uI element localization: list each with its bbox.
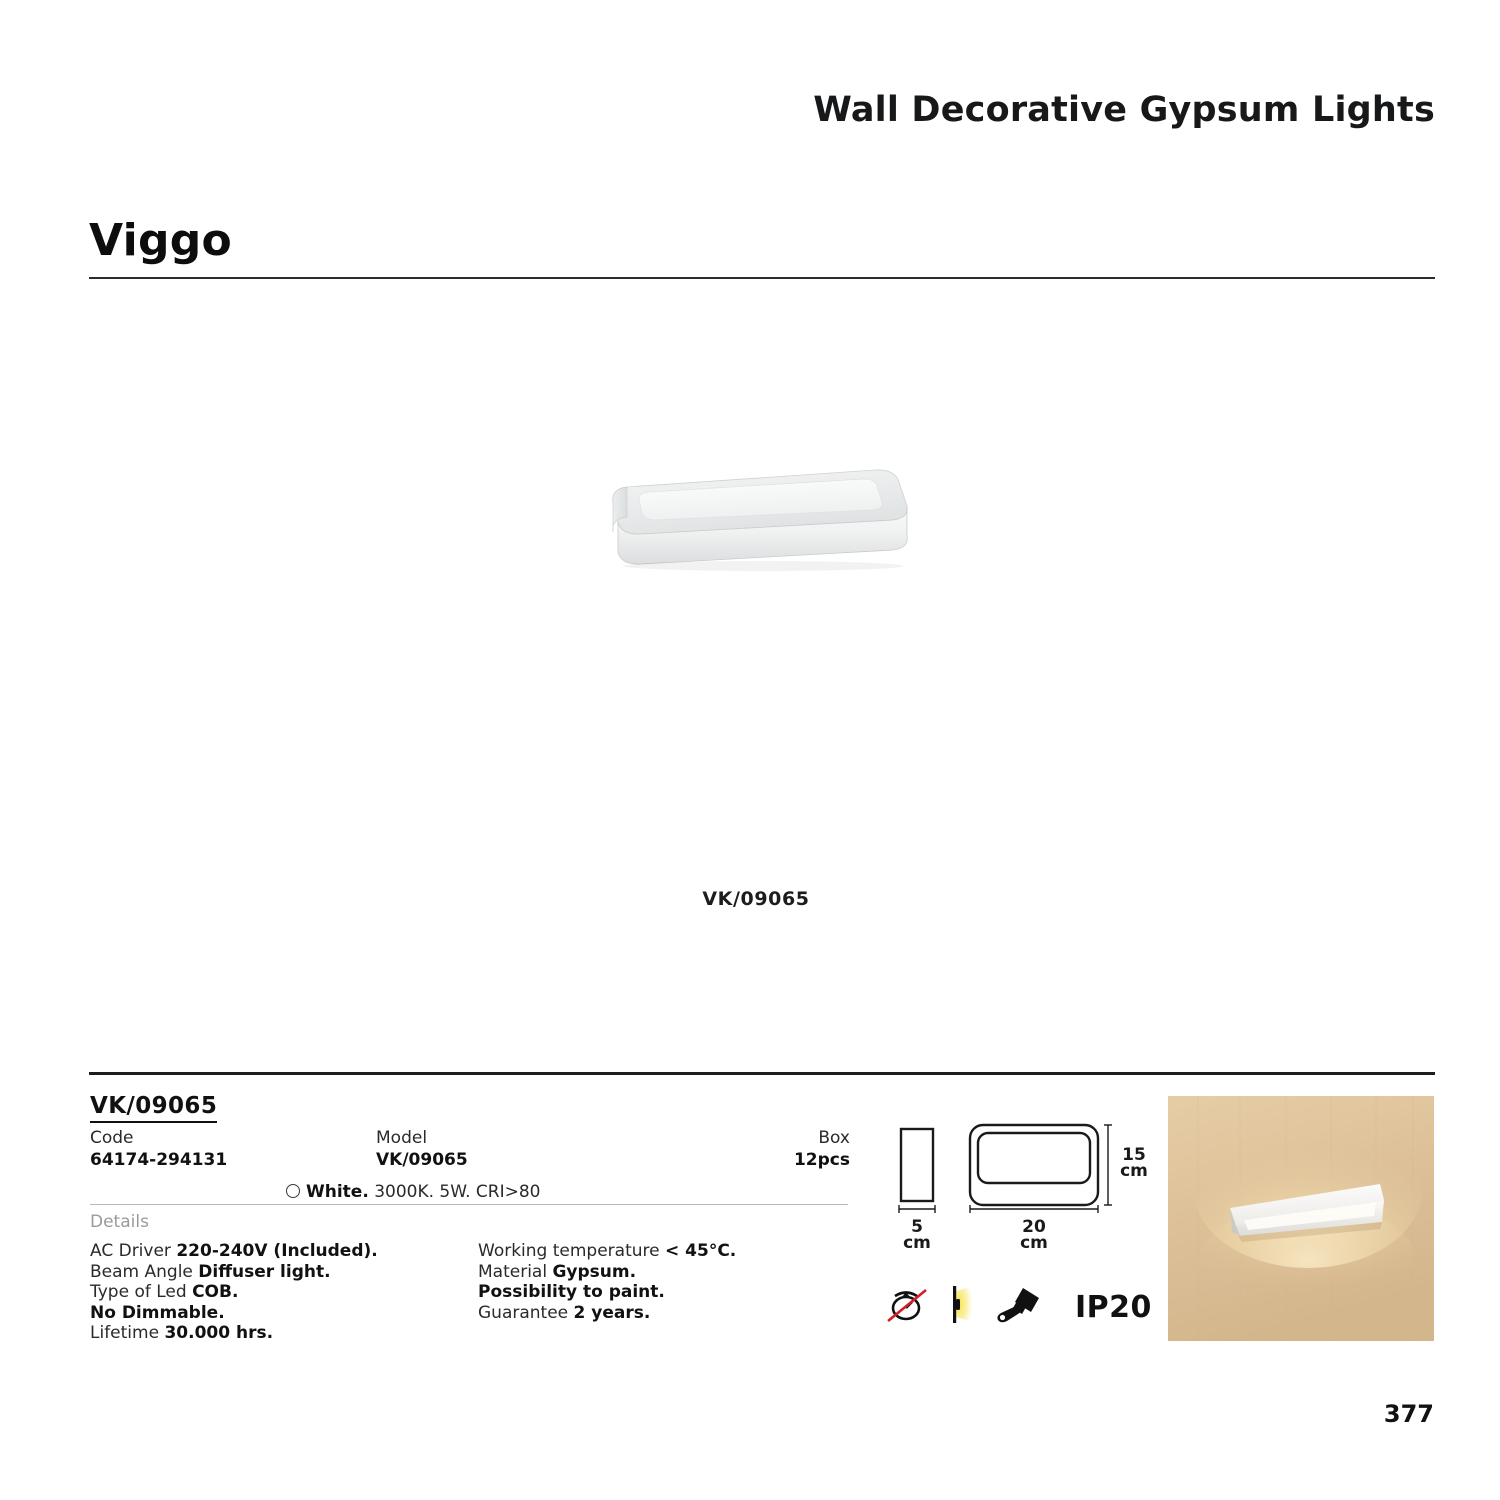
detail-line-left-4: Lifetime 30.000 hrs.: [90, 1324, 480, 1344]
detail-value: 220-240V (Included).: [176, 1241, 377, 1261]
detail-line-left-2: Type of Led COB.: [90, 1283, 480, 1303]
detail-line-right-2: Possibility to paint.: [478, 1283, 838, 1303]
dim-side-unit: cm: [903, 1233, 931, 1253]
dim-width-unit: cm: [1020, 1233, 1048, 1253]
detail-line-left-1: Beam Angle Diffuser light.: [90, 1262, 480, 1282]
variant-specs: 3000K. 5W. CRI>80: [374, 1182, 540, 1202]
detail-lead: Guarantee: [478, 1303, 574, 1323]
detail-line-right-1: Material Gypsum.: [478, 1262, 838, 1282]
detail-line-left-0: AC Driver 220-240V (Included).: [90, 1242, 480, 1262]
category-title: Wall Decorative Gypsum Lights: [0, 90, 1435, 130]
detail-lead: Material: [478, 1262, 552, 1282]
code-value: 64174-294131: [90, 1150, 227, 1170]
detail-lead: Type of Led: [90, 1282, 192, 1302]
details-divider: [90, 1204, 848, 1205]
detail-value: < 45°C.: [665, 1241, 736, 1261]
detail-lead: AC Driver: [90, 1241, 176, 1261]
detail-value: COB.: [192, 1282, 238, 1302]
catalog-page: Wall Decorative Gypsum Lights Viggo: [0, 0, 1500, 1500]
dimension-drawings: 5 cm 20 cm 15 cm: [880, 1110, 1170, 1260]
model-value: VK/09065: [376, 1150, 468, 1170]
box-value: 12pcs: [710, 1150, 850, 1170]
detail-value: No Dimmable.: [90, 1303, 225, 1323]
color-swatch-icon: [286, 1184, 300, 1198]
details-label: Details: [90, 1212, 149, 1232]
dim-height-unit: cm: [1120, 1161, 1148, 1181]
spec-header-row: Code Model Box: [90, 1128, 850, 1150]
variant-color: White.: [306, 1182, 369, 1202]
detail-value: Diffuser light.: [198, 1262, 330, 1282]
hero-product-image: [575, 462, 930, 587]
feature-icon-row: IP20: [885, 1281, 1152, 1333]
spec-top-divider: [89, 1072, 1435, 1075]
details-column-right: Working temperature < 45°C.Material Gyps…: [478, 1242, 838, 1324]
installed-photo: [1168, 1096, 1434, 1341]
wall-beam-light-icon: [947, 1285, 977, 1329]
detail-line-right-0: Working temperature < 45°C.: [478, 1242, 838, 1262]
spec-value-row: 64174-294131 VK/09065 12pcs: [90, 1150, 850, 1172]
sku-heading: VK/09065: [90, 1093, 217, 1123]
page-title: Viggo: [89, 215, 232, 266]
hero-caption: VK/09065: [0, 888, 1500, 910]
code-label: Code: [90, 1128, 134, 1148]
detail-lead: Beam Angle: [90, 1262, 198, 1282]
detail-value: 30.000 hrs.: [164, 1323, 273, 1343]
details-column-left: AC Driver 220-240V (Included).Beam Angle…: [90, 1242, 480, 1344]
detail-line-right-3: Guarantee 2 years.: [478, 1303, 838, 1323]
paintbrush-icon: [995, 1285, 1041, 1329]
detail-value: 2 years.: [574, 1303, 651, 1323]
spec-table: Code Model Box 64174-294131 VK/09065 12p…: [90, 1128, 850, 1172]
detail-value: Gypsum.: [552, 1262, 636, 1282]
ip-rating-label: IP20: [1075, 1290, 1152, 1325]
variant-line: White. 3000K. 5W. CRI>80: [286, 1182, 540, 1202]
detail-value: Possibility to paint.: [478, 1282, 665, 1302]
model-label: Model: [376, 1128, 427, 1148]
detail-line-left-3: No Dimmable.: [90, 1303, 480, 1323]
box-label: Box: [710, 1128, 850, 1148]
detail-lead: Working temperature: [478, 1241, 665, 1261]
detail-lead: Lifetime: [90, 1323, 164, 1343]
no-dimmable-icon: [885, 1286, 929, 1328]
title-divider: [89, 277, 1435, 279]
page-number: 377: [0, 1400, 1434, 1428]
